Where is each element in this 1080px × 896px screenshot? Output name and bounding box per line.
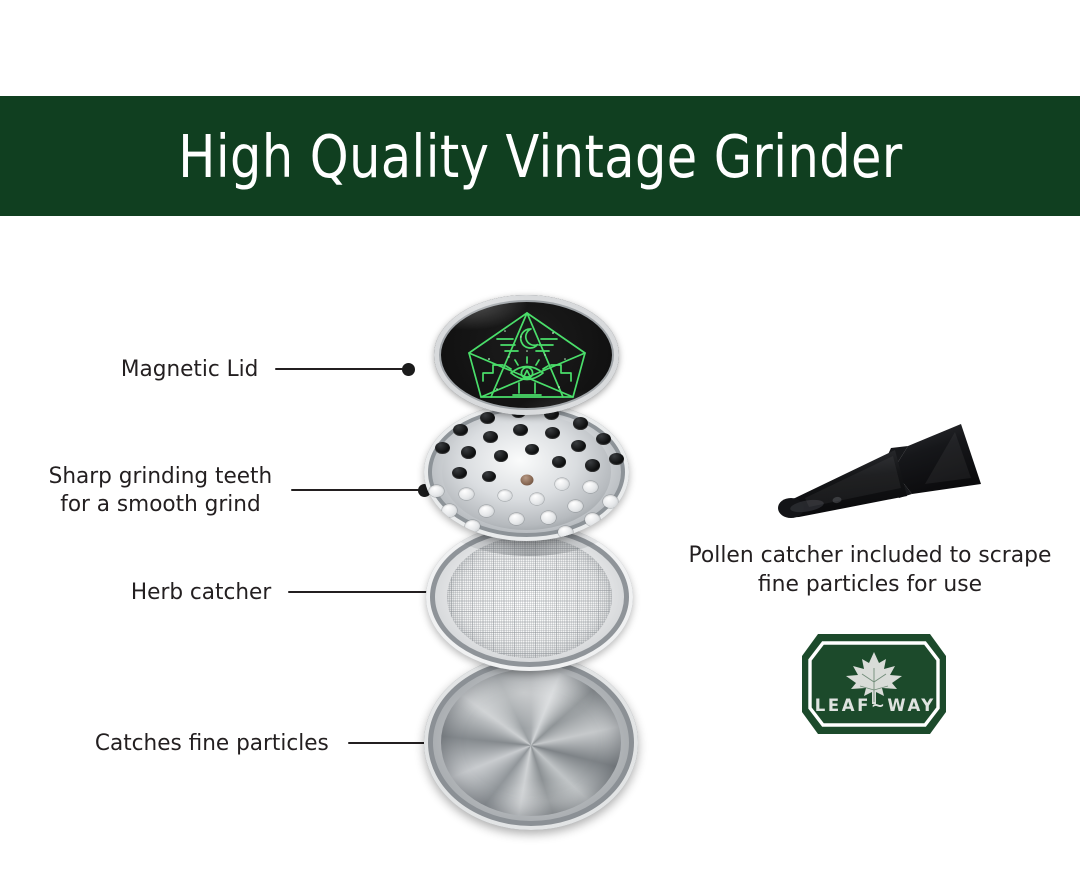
grinder-hole: [555, 478, 569, 489]
teeth-center-pin: [520, 475, 533, 486]
grinder-hole: [509, 513, 524, 525]
brand-name: LEAF~WAY: [798, 696, 950, 715]
accessory-caption: Pollen catcher included to scrape fine p…: [678, 541, 1062, 599]
magnetic-lid-part: [434, 295, 619, 415]
grinder-hole: [603, 495, 618, 507]
grinder-hole: [609, 453, 624, 465]
callout-fine-particles: Catches fine particles: [90, 729, 478, 757]
grinder-hole: [483, 431, 498, 443]
badge-shape-icon: [798, 630, 950, 738]
grinder-hole: [571, 440, 586, 452]
grinder-hole: [585, 513, 600, 525]
scraper-icon: [775, 418, 990, 528]
grinder-hole: [585, 459, 600, 471]
leader-line-herb-catcher: [288, 586, 440, 599]
fine-particle-bowl-part: [424, 655, 638, 830]
brand-badge: LEAF~WAY: [798, 630, 950, 738]
grinding-teeth-part: [424, 403, 629, 541]
herb-catcher-screen-part: [426, 523, 633, 671]
callout-label: Herb catcher: [131, 578, 271, 606]
bowl-gloss-highlight: [441, 669, 621, 816]
grinder-hole: [568, 500, 583, 512]
grinder-hole: [479, 505, 494, 517]
pollen-scraper-tool: [775, 418, 990, 528]
callout-label: Catches fine particles: [95, 729, 329, 757]
callout-magnetic-lid: Magnetic Lid: [118, 355, 415, 383]
grinder-hole: [461, 446, 476, 458]
grinder-hole: [435, 442, 450, 454]
grinder-hole: [442, 504, 457, 516]
lid-geometric-artwork-icon: [461, 307, 593, 403]
leader-line-stroke: [275, 368, 403, 370]
grinder-hole: [429, 485, 444, 497]
callout-grinding-teeth: Sharp grinding teeth for a smooth grind: [44, 462, 431, 518]
callout-label: Magnetic Lid: [121, 355, 259, 383]
leader-line-stroke: [291, 489, 419, 491]
callout-label: Sharp grinding teeth for a smooth grind: [49, 462, 273, 518]
leader-dot: [402, 363, 415, 376]
grinder-hole: [541, 511, 556, 523]
leader-line-grinding-teeth: [291, 484, 431, 497]
grinder-hole: [494, 450, 508, 461]
grinder-hole: [573, 417, 588, 429]
header-banner: High Quality Vintage Grinder: [0, 96, 1080, 216]
leader-line-magnetic-lid: [275, 363, 415, 376]
grinder-hole: [465, 520, 480, 532]
leader-line-stroke: [288, 591, 428, 593]
grinder-hole: [596, 433, 611, 445]
grinder-hole: [558, 526, 573, 538]
grinder-hole: [482, 471, 496, 482]
callout-herb-catcher: Herb catcher: [128, 578, 440, 606]
page-title: High Quality Vintage Grinder: [178, 127, 902, 186]
grinder-product-stack: [424, 295, 644, 840]
grinder-hole: [459, 488, 474, 500]
